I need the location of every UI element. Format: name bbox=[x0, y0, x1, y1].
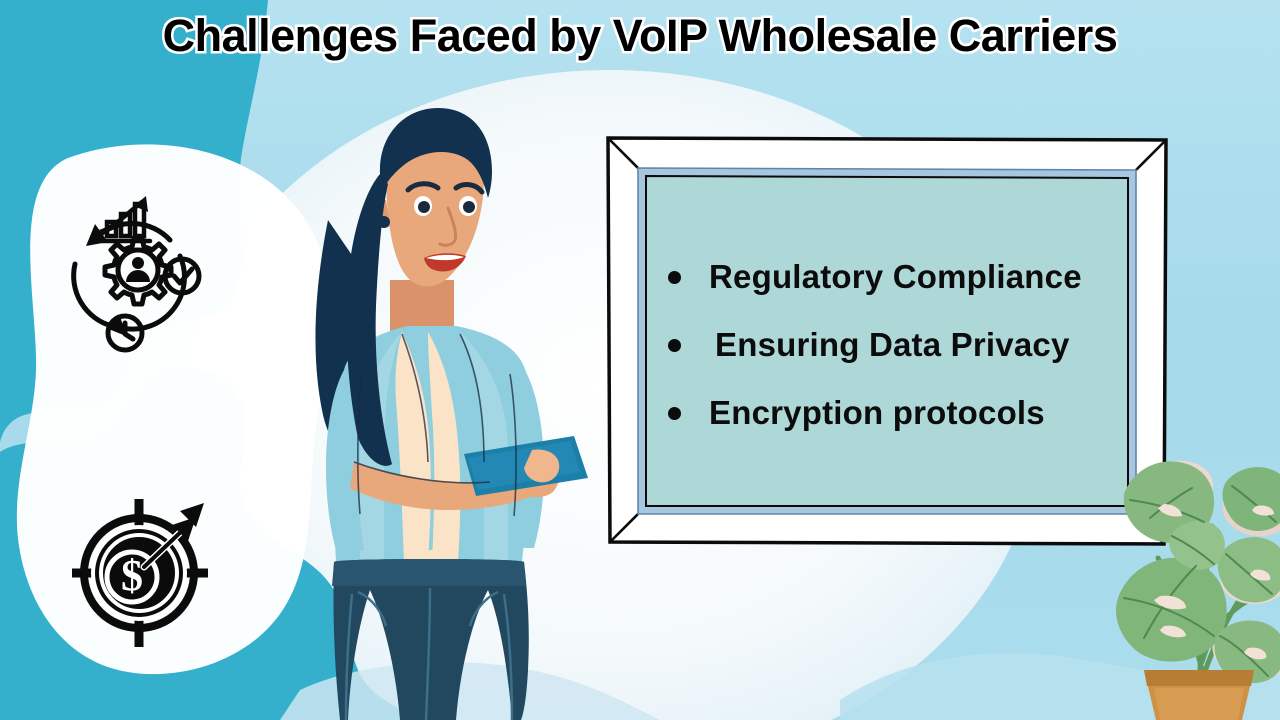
infographic-canvas: Challenges Faced by VoIP Wholesale Carri… bbox=[0, 0, 1280, 720]
business-process-management-icon bbox=[62, 194, 207, 364]
bullet-dot-icon bbox=[668, 271, 681, 284]
target-dollar-glyph: $ bbox=[68, 495, 218, 655]
dollar-symbol: $ bbox=[121, 551, 143, 600]
leaf-4 bbox=[1116, 558, 1227, 662]
list-item: Regulatory Compliance bbox=[668, 258, 1142, 296]
bullet-dot-icon bbox=[668, 339, 681, 352]
plant-pot-rim bbox=[1144, 670, 1254, 686]
jeans-waistband bbox=[332, 559, 526, 586]
page-title: Challenges Faced by VoIP Wholesale Carri… bbox=[0, 8, 1280, 64]
target-dollar-icon: $ bbox=[68, 495, 218, 655]
potted-monstera-plant-illustration bbox=[1108, 448, 1280, 720]
plant-pot-body bbox=[1154, 688, 1244, 720]
gear-person-glyph bbox=[105, 238, 171, 304]
whiteboard: Regulatory Compliance Ensuring Data Priv… bbox=[604, 134, 1170, 548]
business-process-management-glyph bbox=[62, 194, 207, 364]
clock-icon bbox=[108, 316, 142, 350]
list-item: Encryption protocols bbox=[668, 394, 1142, 432]
bullet-label: Regulatory Compliance bbox=[709, 258, 1082, 296]
bullet-label: Encryption protocols bbox=[709, 394, 1045, 432]
board-bullet-list: Regulatory Compliance Ensuring Data Priv… bbox=[632, 164, 1142, 518]
list-item: Ensuring Data Privacy bbox=[668, 326, 1142, 364]
bullet-label: Ensuring Data Privacy bbox=[715, 326, 1070, 364]
bullet-dot-icon bbox=[668, 407, 681, 420]
woman-with-tablet-illustration bbox=[232, 70, 632, 720]
